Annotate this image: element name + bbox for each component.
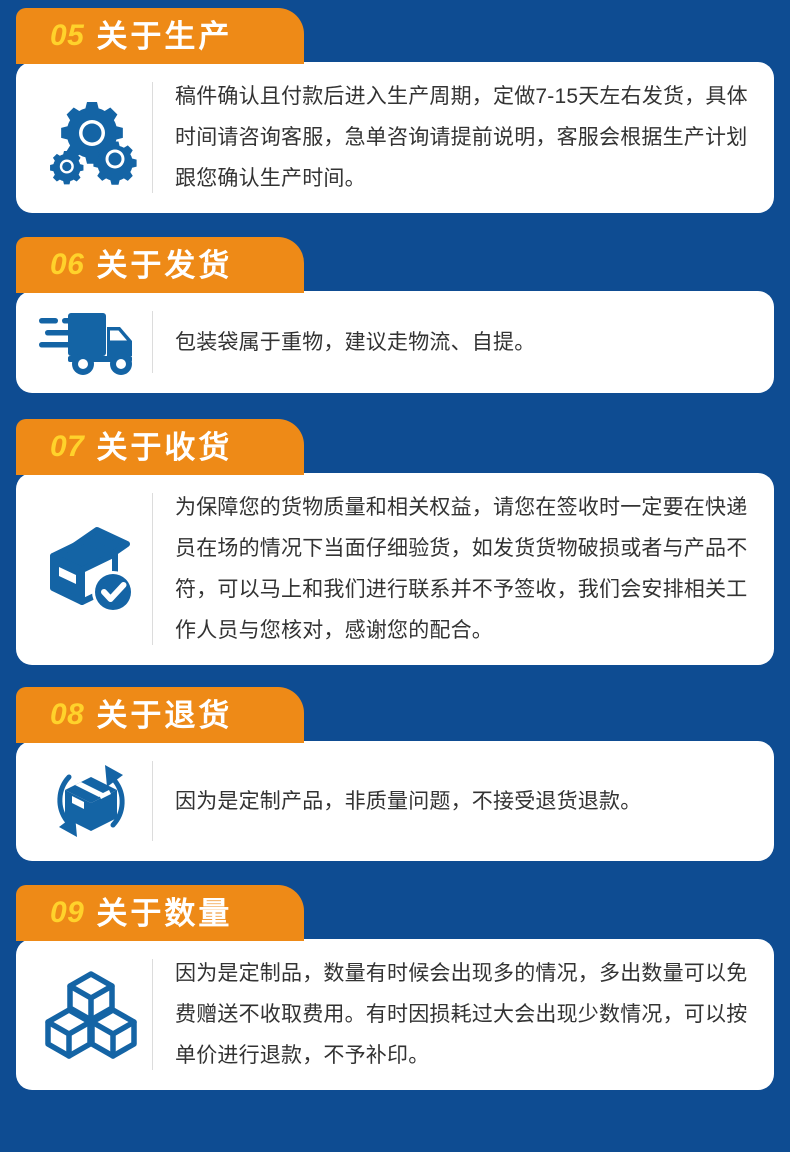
faq-section-06: 06 关于发货 — [16, 237, 774, 393]
section-header-tab-07: 07 关于收货 — [16, 419, 304, 475]
section-card-07: 为保障您的货物质量和相关权益，请您在签收时一定要在快递员在场的情况下当面仔细验货… — [16, 473, 774, 665]
faq-section-09: 09 关于数量 — [16, 885, 774, 1090]
stacked-cubes-icon — [30, 953, 152, 1076]
section-number-08: 08 — [50, 700, 84, 730]
section-header-tab-09: 09 关于数量 — [16, 885, 304, 941]
section-card-09: 因为是定制品，数量有时候会出现多的情况，多出数量可以免费赠送不收取费用。有时因损… — [16, 939, 774, 1090]
return-package-icon — [30, 755, 152, 847]
section-header-tab-08: 08 关于退货 — [16, 687, 304, 743]
section-header-tab-06: 06 关于发货 — [16, 237, 304, 293]
section-number-06: 06 — [50, 250, 84, 280]
faq-section-08: 08 关于退货 — [16, 687, 774, 861]
section-header-tab-05: 05 关于生产 — [16, 8, 304, 64]
section-text-06: 包装袋属于重物，建议走物流、自提。 — [153, 322, 752, 363]
section-title-08: 关于退货 — [96, 700, 232, 731]
section-number-07: 07 — [50, 432, 84, 462]
section-card-05: 稿件确认且付款后进入生产周期，定做7-15天左右发货，具体时间请咨询客服，急单咨… — [16, 62, 774, 213]
section-title-09: 关于数量 — [96, 898, 232, 929]
section-title-07: 关于收货 — [96, 432, 232, 463]
section-text-07: 为保障您的货物质量和相关权益，请您在签收时一定要在快递员在场的情况下当面仔细验货… — [153, 487, 752, 651]
section-title-05: 关于生产 — [96, 21, 232, 52]
section-text-05: 稿件确认且付款后进入生产周期，定做7-15天左右发货，具体时间请咨询客服，急单咨… — [153, 76, 752, 199]
faq-section-05: 05 关于生产 — [16, 8, 774, 213]
section-card-08: 因为是定制产品，非质量问题，不接受退货退款。 — [16, 741, 774, 861]
section-title-06: 关于发货 — [96, 250, 232, 281]
section-text-08: 因为是定制产品，非质量问题，不接受退货退款。 — [153, 781, 752, 822]
section-number-05: 05 — [50, 21, 84, 51]
section-card-06: 包装袋属于重物，建议走物流、自提。 — [16, 291, 774, 393]
gears-icon — [30, 76, 152, 199]
section-text-09: 因为是定制品，数量有时候会出现多的情况，多出数量可以免费赠送不收取费用。有时因损… — [153, 953, 752, 1076]
faq-section-07: 07 关于收货 — [16, 419, 774, 665]
section-number-09: 09 — [50, 898, 84, 928]
faq-page: 05 关于生产 — [0, 0, 790, 1152]
delivery-truck-icon — [30, 305, 152, 379]
package-check-icon — [30, 487, 152, 651]
